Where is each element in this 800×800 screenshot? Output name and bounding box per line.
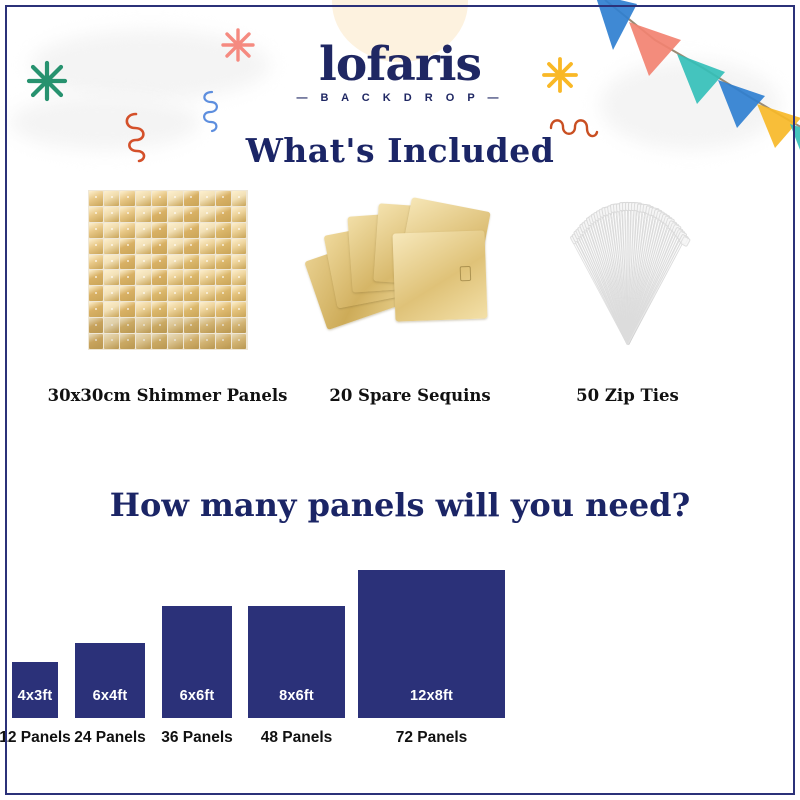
sequin-cell: [232, 286, 247, 301]
sequin-cell: [136, 255, 151, 270]
white-zip-ties-image: [548, 190, 708, 350]
page-title-whats-included: What's Included: [0, 131, 800, 170]
sequin-cell: [216, 334, 231, 349]
sequin-cell: [232, 318, 247, 333]
sequin-cell: [184, 270, 199, 285]
sequin-cell: [200, 286, 215, 301]
sequin-cell: [232, 223, 247, 238]
sequin-cell: [232, 255, 247, 270]
sequin-cell: [200, 302, 215, 317]
product-zip-ties: 50 Zip Ties: [545, 190, 710, 350]
sequin-cell: [200, 270, 215, 285]
sequin-cell: [89, 270, 104, 285]
sequin-cell: [104, 286, 119, 301]
sequin-cell: [136, 286, 151, 301]
sequin-cell: [184, 286, 199, 301]
product-spare-sequins: 20 Spare Sequins: [310, 190, 510, 350]
sequin-cell: [232, 302, 247, 317]
sequin-cell: [232, 239, 247, 254]
gold-sequin-stack-image: [310, 190, 510, 350]
size-bar-6x4ft[interactable]: 6x4ft: [75, 643, 145, 718]
sequin-cell: [104, 270, 119, 285]
sequin-cell: [184, 318, 199, 333]
sequin-cell: [168, 302, 183, 317]
infographic-poster: lofaris — B A C K D R O P — What's Inclu…: [0, 0, 800, 800]
sequin-cell: [104, 255, 119, 270]
page-title-how-many-panels: How many panels will you need?: [0, 486, 800, 524]
size-bar-label: 6x4ft: [75, 688, 145, 704]
sequin-cell: [184, 223, 199, 238]
size-bar-label: 12x8ft: [358, 688, 505, 704]
product-caption: 20 Spare Sequins: [329, 386, 490, 405]
product-caption: 50 Zip Ties: [576, 386, 679, 405]
sequin-cell: [168, 191, 183, 206]
sequin-cell: [152, 191, 167, 206]
sequin-cell: [120, 318, 135, 333]
sequin-cell: [232, 334, 247, 349]
sequin-cell: [152, 239, 167, 254]
size-bar-6x6ft[interactable]: 6x6ft: [162, 606, 232, 718]
sequin-cell: [152, 223, 167, 238]
sequin-cell: [168, 239, 183, 254]
sequin-cell: [152, 318, 167, 333]
brand-logo: lofaris — B A C K D R O P —: [0, 40, 800, 104]
sequin-cell: [89, 286, 104, 301]
sequin-cell: [216, 255, 231, 270]
sequin-cell: [104, 318, 119, 333]
sequin-cell: [136, 191, 151, 206]
sequin-cell: [200, 318, 215, 333]
sequin-cell: [168, 286, 183, 301]
sequin-cell: [89, 318, 104, 333]
sequin-cell: [120, 239, 135, 254]
sequin-cell: [216, 302, 231, 317]
sequin-cell: [168, 334, 183, 349]
sequin-cell: [184, 302, 199, 317]
sequin-cell: [136, 223, 151, 238]
sequin-cell: [232, 270, 247, 285]
sequin-cell: [120, 270, 135, 285]
sequin-cell: [200, 239, 215, 254]
sequin-cell: [152, 286, 167, 301]
sequin-cell: [120, 334, 135, 349]
sequin-cell: [104, 302, 119, 317]
sequin-cell: [184, 207, 199, 222]
logo-subtitle: — B A C K D R O P —: [0, 92, 800, 104]
sequin-cell: [136, 270, 151, 285]
sequin-cell: [120, 286, 135, 301]
sequin-piece: [392, 230, 487, 321]
sequin-cell: [216, 318, 231, 333]
sequin-cell: [184, 191, 199, 206]
sequin-cell: [200, 334, 215, 349]
sequin-cell: [120, 191, 135, 206]
sequin-cell: [168, 223, 183, 238]
sequin-cell: [200, 255, 215, 270]
sequin-cell: [232, 207, 247, 222]
sequin-cell: [152, 334, 167, 349]
sequin-cell: [136, 334, 151, 349]
sequin-cell: [89, 207, 104, 222]
sequin-cell: [152, 270, 167, 285]
logo-wordmark: lofaris: [0, 40, 800, 90]
sequin-cell: [104, 334, 119, 349]
sequin-cell: [184, 239, 199, 254]
sequin-cell: [168, 270, 183, 285]
sequin-cell: [152, 302, 167, 317]
sequin-cell: [200, 223, 215, 238]
sequin-cell: [89, 255, 104, 270]
sequin-cell: [104, 191, 119, 206]
sequin-cell: [120, 302, 135, 317]
size-bar-4x3ft[interactable]: 4x3ft: [12, 662, 58, 718]
sequin-cell: [136, 302, 151, 317]
sequin-cell: [104, 207, 119, 222]
size-bar-panel-count: 72 Panels: [338, 729, 525, 747]
sequin-cell: [104, 239, 119, 254]
included-items-row: 30x30cm Shimmer Panels 20 Spare Sequins …: [0, 190, 800, 430]
sequin-cell: [168, 255, 183, 270]
sequin-cell: [200, 191, 215, 206]
sequin-cell: [120, 223, 135, 238]
size-bar-label: 6x6ft: [162, 688, 232, 704]
sequin-cell: [200, 207, 215, 222]
gold-sequin-panel-image: [88, 190, 248, 350]
sequin-cell: [89, 191, 104, 206]
sequin-cell: [89, 302, 104, 317]
sequin-cell: [136, 318, 151, 333]
sequin-cell: [168, 318, 183, 333]
sequin-cell: [120, 255, 135, 270]
sequin-cell: [136, 239, 151, 254]
sequin-cell: [216, 207, 231, 222]
sequin-cell: [216, 191, 231, 206]
sequin-cell: [89, 239, 104, 254]
sequin-cell: [184, 334, 199, 349]
sequin-cell: [232, 191, 247, 206]
sequin-cell: [216, 286, 231, 301]
sequin-cell: [216, 239, 231, 254]
size-bar-8x6ft[interactable]: 8x6ft: [248, 606, 345, 718]
sequin-cell: [216, 270, 231, 285]
sequin-cell: [168, 207, 183, 222]
sequin-cell: [216, 223, 231, 238]
size-bar-label: 8x6ft: [248, 688, 345, 704]
sequin-cell: [89, 223, 104, 238]
panel-size-chart: 4x3ft12 Panels6x4ft24 Panels6x6ft36 Pane…: [0, 540, 800, 765]
sequin-cell: [184, 255, 199, 270]
sequin-cell: [104, 223, 119, 238]
size-bar-12x8ft[interactable]: 12x8ft: [358, 570, 505, 718]
sequin-cell: [120, 207, 135, 222]
sequin-cell: [152, 255, 167, 270]
product-shimmer-panels: 30x30cm Shimmer Panels: [85, 190, 250, 350]
sequin-cell: [89, 334, 104, 349]
sequin-cell: [152, 207, 167, 222]
size-bar-label: 4x3ft: [12, 688, 58, 704]
sequin-cell: [136, 207, 151, 222]
product-caption: 30x30cm Shimmer Panels: [48, 386, 288, 405]
